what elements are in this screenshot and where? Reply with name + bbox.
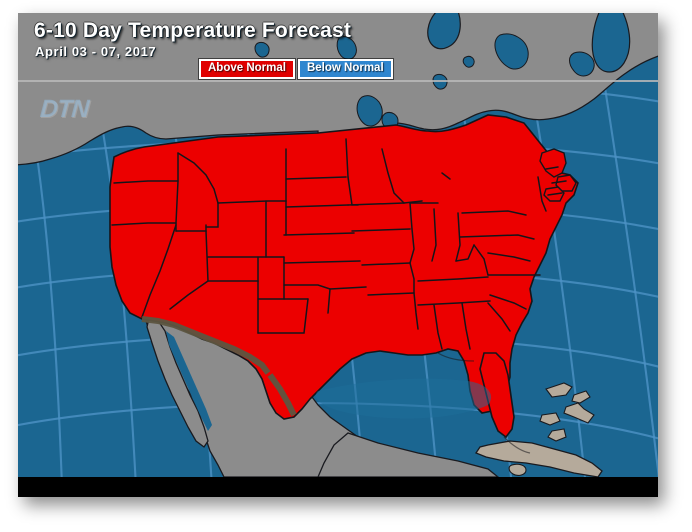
legend-item-below-normal[interactable]: Below Normal (298, 59, 393, 79)
region-isla-juventud[interactable] (509, 464, 526, 475)
map-frame: 6-10 Day Temperature Forecast April 03 -… (18, 13, 658, 497)
forecast-map-graphic[interactable] (18, 13, 658, 477)
map-bottom-bar (18, 477, 658, 497)
header-divider-rule (18, 80, 658, 82)
forecast-date-range: April 03 - 07, 2017 (35, 44, 156, 59)
legend: Above Normal Below Normal (199, 59, 393, 79)
page-title: 6-10 Day Temperature Forecast (34, 19, 351, 43)
page-root: 6-10 Day Temperature Forecast April 03 -… (0, 0, 692, 532)
legend-item-above-normal[interactable]: Above Normal (199, 59, 295, 79)
map-canvas[interactable]: 6-10 Day Temperature Forecast April 03 -… (18, 13, 658, 477)
